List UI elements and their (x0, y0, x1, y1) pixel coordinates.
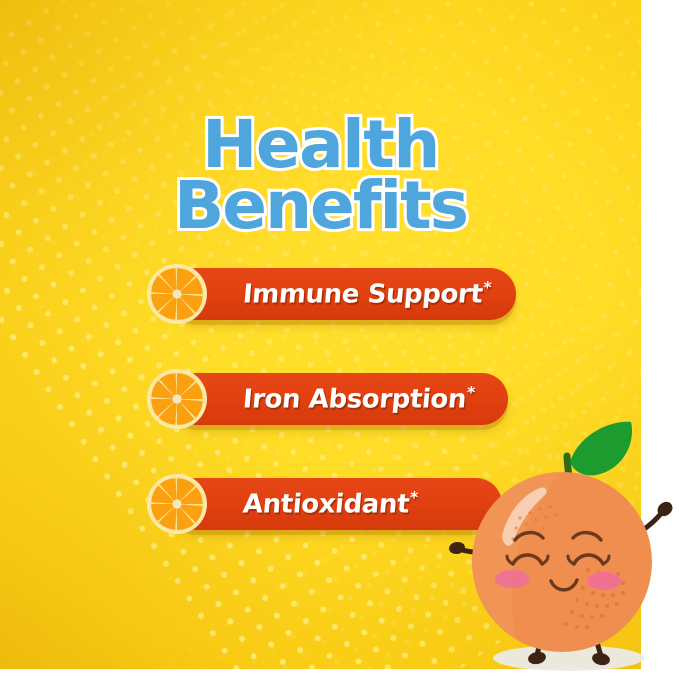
mascot-foot-left (527, 650, 547, 665)
mascot-leaf (570, 422, 632, 476)
footnote-marker: * (482, 278, 492, 297)
footnote-marker: * (466, 383, 476, 402)
mascot-foot-right (591, 651, 611, 666)
mascot-hand-left (448, 541, 466, 555)
benefit-label: Immune Support* (170, 278, 492, 310)
orange-slice-icon (146, 368, 208, 430)
health-benefits-poster: Health Benefits Immune Support* Iron Abs… (0, 0, 679, 676)
smiling-orange-character (446, 418, 679, 676)
orange-slice-icon (146, 473, 208, 535)
mascot-cheek-right (587, 572, 621, 590)
mascot-cheek-left (495, 570, 529, 588)
footnote-marker: * (409, 488, 419, 507)
benefit-label: Iron Absorption* (170, 383, 476, 415)
orange-slice-icon (146, 263, 208, 325)
benefit-pill-immune-support[interactable]: Immune Support* (171, 268, 516, 320)
